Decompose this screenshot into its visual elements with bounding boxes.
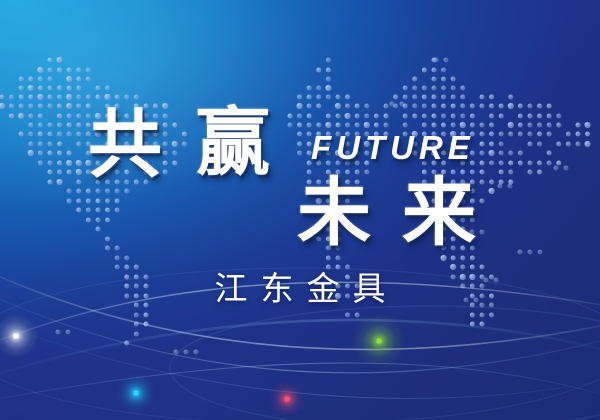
promotional-banner: 共 赢 未 来 FUTURE 江东金具: [0, 0, 600, 420]
headline-char-gong: 共: [88, 108, 162, 182]
headline-char-wei: 未: [297, 176, 371, 250]
headline-group: 共 赢 未 来 FUTURE 江东金具: [0, 0, 600, 420]
headline-char-lai: 来: [402, 176, 476, 250]
future-wordmark: FUTURE: [311, 131, 475, 164]
company-name: 江东金具: [0, 272, 600, 305]
headline-char-ying: 赢: [196, 106, 270, 180]
